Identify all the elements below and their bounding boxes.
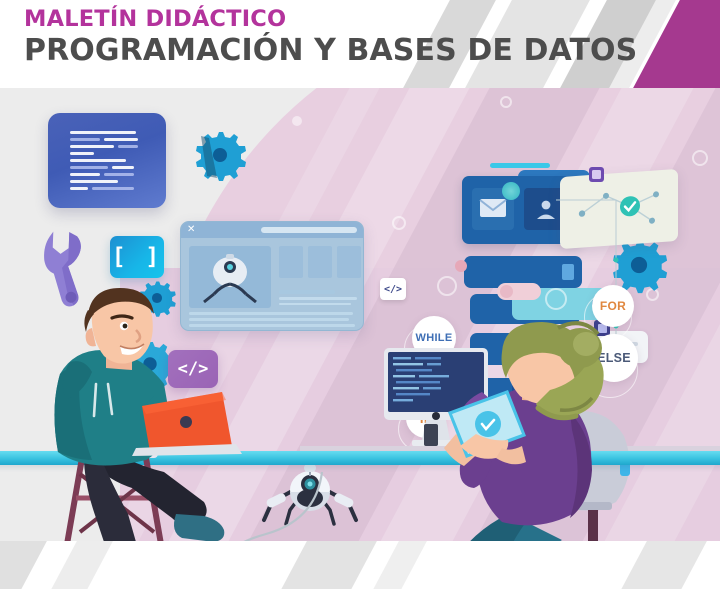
thumbnail-list [279,246,361,278]
decor-circle [437,276,457,296]
gear-icon [197,130,243,180]
header-text-block: MALETÍN DIDÁCTICO PROGRAMACIÓN Y BASES D… [24,8,637,67]
illustration-stage: [ ] [0,88,720,589]
floor-band [0,541,720,589]
poster-header: MALETÍN DIDÁCTICO PROGRAMACIÓN Y BASES D… [0,0,720,88]
brackets-icon: [ ] [110,236,164,278]
detail-lines [279,290,359,308]
decor-circle [500,96,512,108]
close-icon[interactable]: ✕ [187,225,195,235]
decor-dot [455,260,467,272]
decor-dot [292,116,302,126]
floor-diagonal-stripes [0,541,720,589]
keyword-bubble-for: FOR [592,285,634,327]
code-tag-small-icon: </> [380,278,406,300]
keyword-label: FOR [600,299,626,313]
page-title: PROGRAMACIÓN Y BASES DE DATOS [24,34,637,68]
ui-accent-bar [490,163,550,168]
header-eyebrow: MALETÍN DIDÁCTICO [24,8,637,32]
glow-dot [502,182,520,200]
browser-titlebar: ✕ [181,222,363,238]
decor-circle [392,216,406,230]
toggle-knob[interactable] [500,285,513,298]
ui-badge-purple [589,167,604,182]
address-bar[interactable] [261,227,357,233]
poster: MALETÍN DIDÁCTICO PROGRAMACIÓN Y BASES D… [0,0,720,589]
decor-circle [692,150,708,166]
code-card-icon [48,113,166,208]
